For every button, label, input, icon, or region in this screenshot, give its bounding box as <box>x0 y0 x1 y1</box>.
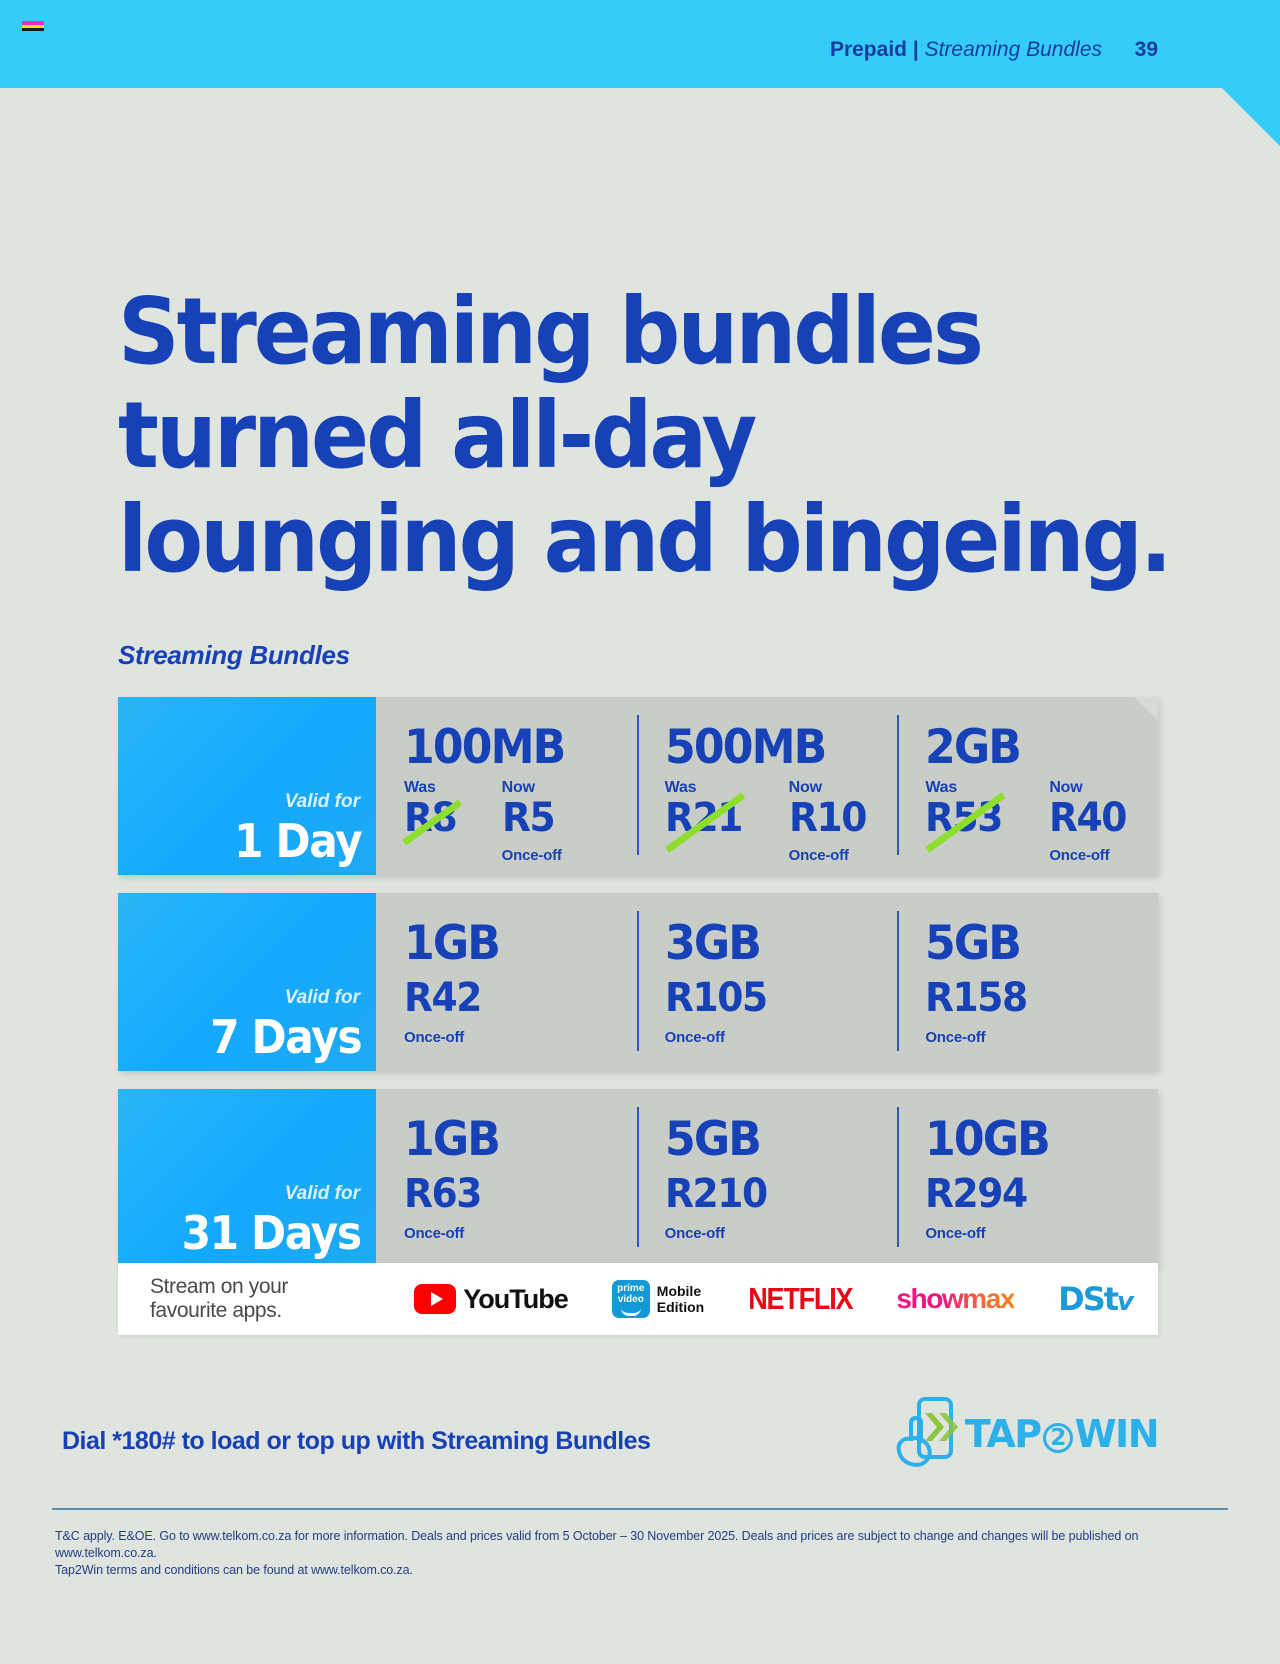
bundle-cell[interactable]: 1GB R42 Once-off <box>376 893 637 1071</box>
row-period: 1 Day <box>234 815 361 867</box>
row-period: 7 Days <box>210 1011 361 1063</box>
row-cells: 1GB R42 Once-off 3GB R105 Once-off 5GB R… <box>376 893 1158 1071</box>
was-price-group: Was R53 <box>925 779 1007 864</box>
page-header: Prepaid | Streaming Bundles 39 <box>0 0 1280 88</box>
now-price-group: Now R5 Once-off <box>502 779 562 864</box>
once-off-label: Once-off <box>665 1225 898 1242</box>
once-off-label: Once-off <box>925 1029 1158 1046</box>
footer-terms-line-2: Tap2Win terms and conditions can be foun… <box>55 1562 1235 1579</box>
bundle-cell[interactable]: 3GB R105 Once-off <box>637 893 898 1071</box>
now-amount: R5 <box>502 797 554 839</box>
bundle-cell[interactable]: 1GB R63 Once-off <box>376 1089 637 1267</box>
apps-strip-label: Stream on your favourite apps. <box>150 1275 370 1323</box>
table-row: Valid for 31 Days 1GB R63 Once-off 5GB R… <box>118 1089 1158 1267</box>
was-amount: R21 <box>665 797 742 839</box>
bundle-cell[interactable]: 5GB R210 Once-off <box>637 1089 898 1267</box>
now-price-group: Now R10 Once-off <box>789 779 871 864</box>
netflix-logo: NETFLIX <box>748 1284 852 1315</box>
row-period-panel: Valid for 1 Day <box>118 697 376 875</box>
bundle-cell[interactable]: 10GB R294 Once-off <box>897 1089 1158 1267</box>
once-off-label: Once-off <box>404 1225 637 1242</box>
was-amount: R8 <box>404 797 456 839</box>
bundle-size: 3GB <box>665 919 884 969</box>
netflix-wordmark: NETFLIX <box>748 1282 852 1317</box>
valid-for-label: Valid for <box>285 791 360 813</box>
youtube-play-icon <box>414 1284 456 1314</box>
once-off-label: Once-off <box>789 847 871 864</box>
once-off-label: Once-off <box>404 1029 637 1046</box>
prime-mobile-edition-wordmark: Mobile Edition <box>657 1283 704 1315</box>
bundle-price: R210 <box>665 1173 884 1215</box>
breadcrumb: Prepaid | Streaming Bundles <box>830 38 1102 62</box>
valid-for-label: Valid for <box>285 987 360 1009</box>
valid-for-label: Valid for <box>285 1183 360 1205</box>
once-off-label: Once-off <box>1049 847 1131 864</box>
bundle-size: 5GB <box>665 1115 884 1165</box>
tap2win-two-badge: 2 <box>1043 1423 1073 1453</box>
headline-line-3: lounging and bingeing. <box>118 488 1132 592</box>
was-amount: R53 <box>925 797 1002 839</box>
bundle-size: 5GB <box>925 919 1144 969</box>
bundles-table: Valid for 1 Day 100MB Was R8 Now R5 Once… <box>118 697 1158 1285</box>
bundle-size: 1GB <box>404 919 623 969</box>
bundle-price: R42 <box>404 977 623 1019</box>
prime-smile-icon <box>621 1308 641 1316</box>
tap2win-suffix: WIN <box>1075 1412 1158 1456</box>
once-off-label: Once-off <box>665 1029 898 1046</box>
footer-terms-line-1: T&C apply. E&OE. Go to www.telkom.co.za … <box>55 1528 1235 1562</box>
row-period-panel: Valid for 31 Days <box>118 1089 376 1267</box>
youtube-logo: YouTube <box>414 1284 567 1315</box>
footer-terms: T&C apply. E&OE. Go to www.telkom.co.za … <box>55 1528 1235 1579</box>
price-pair: Was R8 Now R5 Once-off <box>404 779 637 864</box>
bundle-price: R63 <box>404 1173 623 1215</box>
prime-edition-line-1: Mobile <box>657 1283 704 1299</box>
bundle-size: 1GB <box>404 1115 623 1165</box>
page-number: 39 <box>1135 38 1158 62</box>
was-price-group: Was R8 <box>404 779 460 864</box>
once-off-label: Once-off <box>925 1225 1158 1242</box>
bundle-size: 500MB <box>665 723 884 773</box>
footer-divider <box>52 1508 1228 1510</box>
table-row: Valid for 7 Days 1GB R42 Once-off 3GB R1… <box>118 893 1158 1071</box>
row-cells: 100MB Was R8 Now R5 Once-off 500MB <box>376 697 1158 875</box>
now-price-group: Now R40 Once-off <box>1049 779 1131 864</box>
row-cells: 1GB R63 Once-off 5GB R210 Once-off 10GB … <box>376 1089 1158 1267</box>
price-pair: Was R21 Now R10 Once-off <box>665 779 898 864</box>
apps-logo-list: YouTube prime video Mobile Edition NETFL… <box>370 1280 1132 1318</box>
tap2win-prefix: TAP <box>965 1412 1041 1456</box>
bundle-cell[interactable]: 100MB Was R8 Now R5 Once-off <box>376 697 637 875</box>
bundle-price: R294 <box>925 1173 1144 1215</box>
showmax-wordmark: showmax <box>896 1283 1014 1315</box>
now-amount: R10 <box>789 797 866 839</box>
prime-badge-line-2: video <box>618 1294 644 1305</box>
row-period: 31 Days <box>182 1207 361 1259</box>
dstv-wordmark: DStv <box>1058 1280 1132 1318</box>
tap-phone-icon <box>889 1395 961 1473</box>
was-price-group: Was R21 <box>665 779 747 864</box>
tap2win-logo: TAP2WIN <box>889 1395 1158 1473</box>
row-period-panel: Valid for 7 Days <box>118 893 376 1071</box>
bundle-size: 10GB <box>925 1115 1144 1165</box>
primevideo-logo: prime video Mobile Edition <box>612 1280 704 1318</box>
tap2win-wordmark: TAP2WIN <box>965 1412 1158 1456</box>
once-off-label: Once-off <box>502 847 562 864</box>
registration-mark-icon <box>22 18 44 31</box>
bundle-cell[interactable]: 2GB Was R53 Now R40 Once-off <box>897 697 1158 875</box>
price-pair: Was R53 Now R40 Once-off <box>925 779 1158 864</box>
dstv-wordmark-main: DSt <box>1058 1280 1117 1318</box>
section-title: Streaming Bundles <box>118 640 350 671</box>
showmax-logo: showmax <box>896 1283 1014 1315</box>
now-amount: R40 <box>1049 797 1126 839</box>
youtube-wordmark: YouTube <box>463 1284 567 1315</box>
prime-edition-line-2: Edition <box>657 1299 704 1315</box>
table-row: Valid for 1 Day 100MB Was R8 Now R5 Once… <box>118 697 1158 875</box>
corner-fold-decoration <box>1222 88 1280 146</box>
prime-badge-line-1: prime <box>617 1283 644 1294</box>
headline-line-2: turned all-day <box>118 384 1132 488</box>
bundle-cell[interactable]: 5GB R158 Once-off <box>897 893 1158 1071</box>
page-title: Streaming bundles turned all-day loungin… <box>118 280 1132 592</box>
dstv-wordmark-v: v <box>1117 1287 1132 1317</box>
breadcrumb-section: Prepaid <box>830 38 907 61</box>
breadcrumb-separator: | <box>913 38 919 61</box>
bundle-price: R158 <box>925 977 1144 1019</box>
dstv-logo: DStv <box>1058 1280 1132 1318</box>
streaming-apps-strip: Stream on your favourite apps. YouTube p… <box>118 1263 1158 1335</box>
headline-line-1: Streaming bundles <box>118 280 1132 384</box>
bundle-size: 2GB <box>925 723 1144 773</box>
bundle-price: R105 <box>665 977 884 1019</box>
bundle-size: 100MB <box>404 723 623 773</box>
breadcrumb-subsection: Streaming Bundles <box>925 38 1102 61</box>
bundle-cell[interactable]: 500MB Was R21 Now R10 Once-off <box>637 697 898 875</box>
dial-instruction: Dial *180# to load or top up with Stream… <box>62 1427 650 1456</box>
prime-video-icon: prime video <box>612 1280 650 1318</box>
